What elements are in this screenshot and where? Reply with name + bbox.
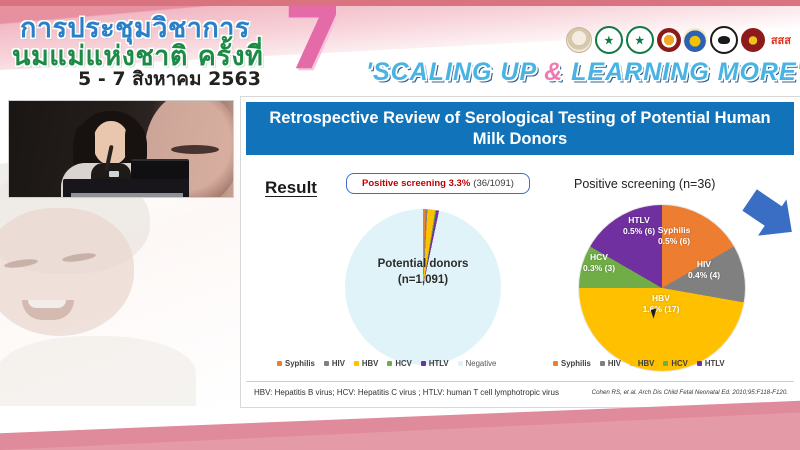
- callout-highlight-text: Positive screening 3.3%: [362, 178, 470, 189]
- sponsor-logo-4-icon: [657, 28, 681, 52]
- sponsor-logo-3-icon: [626, 26, 654, 54]
- pie-slice-label-hcv: HCV 0.3% (3): [571, 252, 627, 274]
- pie-slice-label-hiv: HIV 0.4% (4): [675, 259, 733, 281]
- slice-syphilis-value: 0.5% (6): [639, 236, 709, 247]
- legend-swatch-hbv-icon: [630, 361, 635, 366]
- legend-item-htlv: HTLV: [421, 359, 449, 368]
- legend-label-negative: Negative: [466, 359, 497, 368]
- sponsor-logos: สสส: [566, 24, 794, 56]
- legend-label-hbv: HBV: [638, 359, 654, 368]
- slide-footnote: HBV: Hepatitis B virus; HCV: Hepatitis C…: [246, 381, 794, 402]
- legend-item-hcv: HCV: [663, 359, 687, 368]
- legend-label-hbv: HBV: [362, 359, 378, 368]
- tagline-part-1: 'SCALING UP: [366, 58, 544, 86]
- slice-hcv-name: HCV: [571, 252, 627, 263]
- flow-arrow-icon: [735, 182, 800, 250]
- legend-potential-donors: SyphilisHIVHBVHCVHTLVNegative: [277, 359, 496, 368]
- podium-base-shape: [71, 193, 183, 198]
- legend-swatch-hcv-icon: [663, 361, 668, 366]
- speaker-video[interactable]: [8, 100, 234, 198]
- video-foreground-blur-brow: [171, 145, 219, 154]
- tagline-ampersand: &: [544, 58, 563, 86]
- thaihealth-logo-icon: สสส: [768, 28, 794, 52]
- tagline-part-2: LEARNING MORE': [563, 58, 800, 86]
- sponsor-logo-1-icon: [566, 27, 592, 53]
- legend-item-hbv: HBV: [354, 359, 378, 368]
- slide-viewer: การประชุมวิชาการ นมแม่แห่งชาติ ครั้งที่ …: [0, 0, 800, 450]
- potential-donors-title: Potential donors: [345, 257, 501, 273]
- legend-item-hcv: HCV: [387, 359, 411, 368]
- legend-item-htlv: HTLV: [697, 359, 725, 368]
- baby-face-shape: [0, 208, 134, 336]
- conference-date-thai: 5 - 7 สิงหาคม 2563: [78, 64, 261, 94]
- positive-screening-callout: Positive screening 3.3% (36/1091): [346, 173, 530, 194]
- legend-swatch-syphilis-icon: [553, 361, 558, 366]
- legend-item-syphilis: Syphilis: [553, 359, 591, 368]
- slice-hiv-value: 0.4% (4): [675, 270, 733, 281]
- baby-body-shape: [0, 336, 196, 406]
- potential-donors-count: (n=1,091): [345, 273, 501, 289]
- legend-item-negative: Negative: [458, 359, 497, 368]
- conference-edition-number: 7: [283, 0, 343, 82]
- baby-teeth-shape: [28, 300, 66, 308]
- legend-label-hcv: HCV: [395, 359, 411, 368]
- conference-tagline: 'SCALING UP & LEARNING MORE': [366, 58, 800, 87]
- speaker-media-column: [0, 96, 240, 406]
- sponsor-logo-5-icon: [683, 28, 707, 52]
- conference-header: การประชุมวิชาการ นมแม่แห่งชาติ ครั้งที่ …: [0, 0, 800, 96]
- legend-label-hiv: HIV: [332, 359, 345, 368]
- speaker-name-badge: [109, 171, 119, 177]
- legend-label-htlv: HTLV: [705, 359, 725, 368]
- legend-swatch-hbv-icon: [354, 361, 359, 366]
- legend-swatch-negative-icon: [458, 361, 463, 366]
- legend-swatch-hiv-icon: [324, 361, 329, 366]
- sponsor-logo-6-icon: [710, 26, 738, 54]
- footnote-abbreviations: HBV: Hepatitis B virus; HCV: Hepatitis C…: [254, 388, 559, 397]
- slice-hbv-value: 1.6% (17): [619, 304, 703, 315]
- legend-swatch-hiv-icon: [600, 361, 605, 366]
- result-heading: Result: [265, 178, 317, 198]
- sponsor-logo-2-icon: [595, 26, 623, 54]
- legend-label-hcv: HCV: [671, 359, 687, 368]
- legend-swatch-syphilis-icon: [277, 361, 282, 366]
- callout-detail-text: (36/1091): [473, 178, 514, 189]
- slide-title: Retrospective Review of Serological Test…: [246, 102, 794, 155]
- slice-htlv-value: 0.5% (6): [611, 226, 667, 237]
- slice-hcv-value: 0.3% (3): [571, 263, 627, 274]
- speaker-face: [93, 121, 129, 165]
- potential-donors-pie-label: Potential donors (n=1,091): [345, 257, 501, 288]
- footnote-citation: Cohen RS, et al. Arch Dis Child Fetal Ne…: [592, 389, 788, 396]
- legend-label-syphilis: Syphilis: [285, 359, 315, 368]
- legend-item-syphilis: Syphilis: [277, 359, 315, 368]
- legend-positive-screening: SyphilisHIVHBVHCVHTLV: [553, 359, 725, 368]
- legend-item-hbv: HBV: [630, 359, 654, 368]
- legend-label-syphilis: Syphilis: [561, 359, 591, 368]
- slice-hbv-name: HBV: [619, 293, 703, 304]
- legend-item-hiv: HIV: [324, 359, 345, 368]
- legend-swatch-htlv-icon: [421, 361, 426, 366]
- pie-slice-label-hbv: HBV 1.6% (17): [619, 293, 703, 315]
- legend-label-hiv: HIV: [608, 359, 621, 368]
- legend-swatch-hcv-icon: [387, 361, 392, 366]
- positive-screening-heading: Positive screening (n=36): [574, 177, 715, 191]
- slice-hiv-name: HIV: [675, 259, 733, 270]
- slice-htlv-name: HTLV: [611, 215, 667, 226]
- sponsor-logo-7-icon: [741, 28, 765, 52]
- legend-swatch-htlv-icon: [697, 361, 702, 366]
- presentation-slide: Retrospective Review of Serological Test…: [240, 96, 800, 408]
- legend-item-hiv: HIV: [600, 359, 621, 368]
- pie-slice-label-htlv: HTLV 0.5% (6): [611, 215, 667, 237]
- legend-label-htlv: HTLV: [429, 359, 449, 368]
